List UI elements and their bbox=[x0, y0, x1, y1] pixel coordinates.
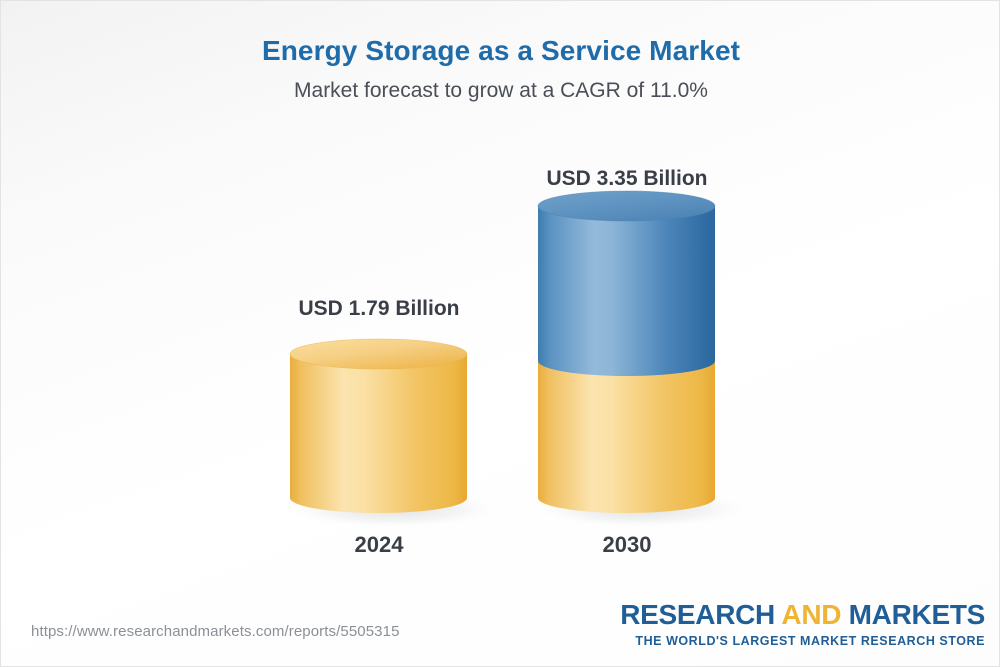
bar-2030-yellow-segment bbox=[538, 361, 715, 513]
report-url-link[interactable]: https://www.researchandmarkets.com/repor… bbox=[31, 623, 400, 640]
category-label-2030: 2030 bbox=[477, 532, 777, 558]
logo-wordmark: RESEARCH AND MARKETS bbox=[620, 601, 985, 629]
value-label-2030: USD 3.35 Billion bbox=[477, 167, 777, 191]
logo-word-research: RESEARCH bbox=[620, 599, 781, 630]
value-label-2024: USD 1.79 Billion bbox=[229, 297, 529, 321]
cylinder-bars-svg bbox=[1, 1, 1000, 667]
logo-tagline: THE WORLD'S LARGEST MARKET RESEARCH STOR… bbox=[620, 635, 985, 648]
logo-word-and: AND bbox=[781, 599, 841, 630]
logo-word-markets: MARKETS bbox=[841, 599, 985, 630]
bar-2024 bbox=[290, 339, 467, 513]
bar-chart: USD 1.79 Billion USD 3.35 Billion 2024 2… bbox=[1, 1, 1000, 667]
bar-2030 bbox=[538, 191, 715, 513]
bar-2030-blue-segment bbox=[538, 206, 715, 376]
research-and-markets-logo[interactable]: RESEARCH AND MARKETS THE WORLD'S LARGEST… bbox=[620, 601, 985, 648]
infographic-canvas: Energy Storage as a Service Market Marke… bbox=[0, 0, 1000, 667]
bar-2024-body bbox=[290, 354, 467, 513]
